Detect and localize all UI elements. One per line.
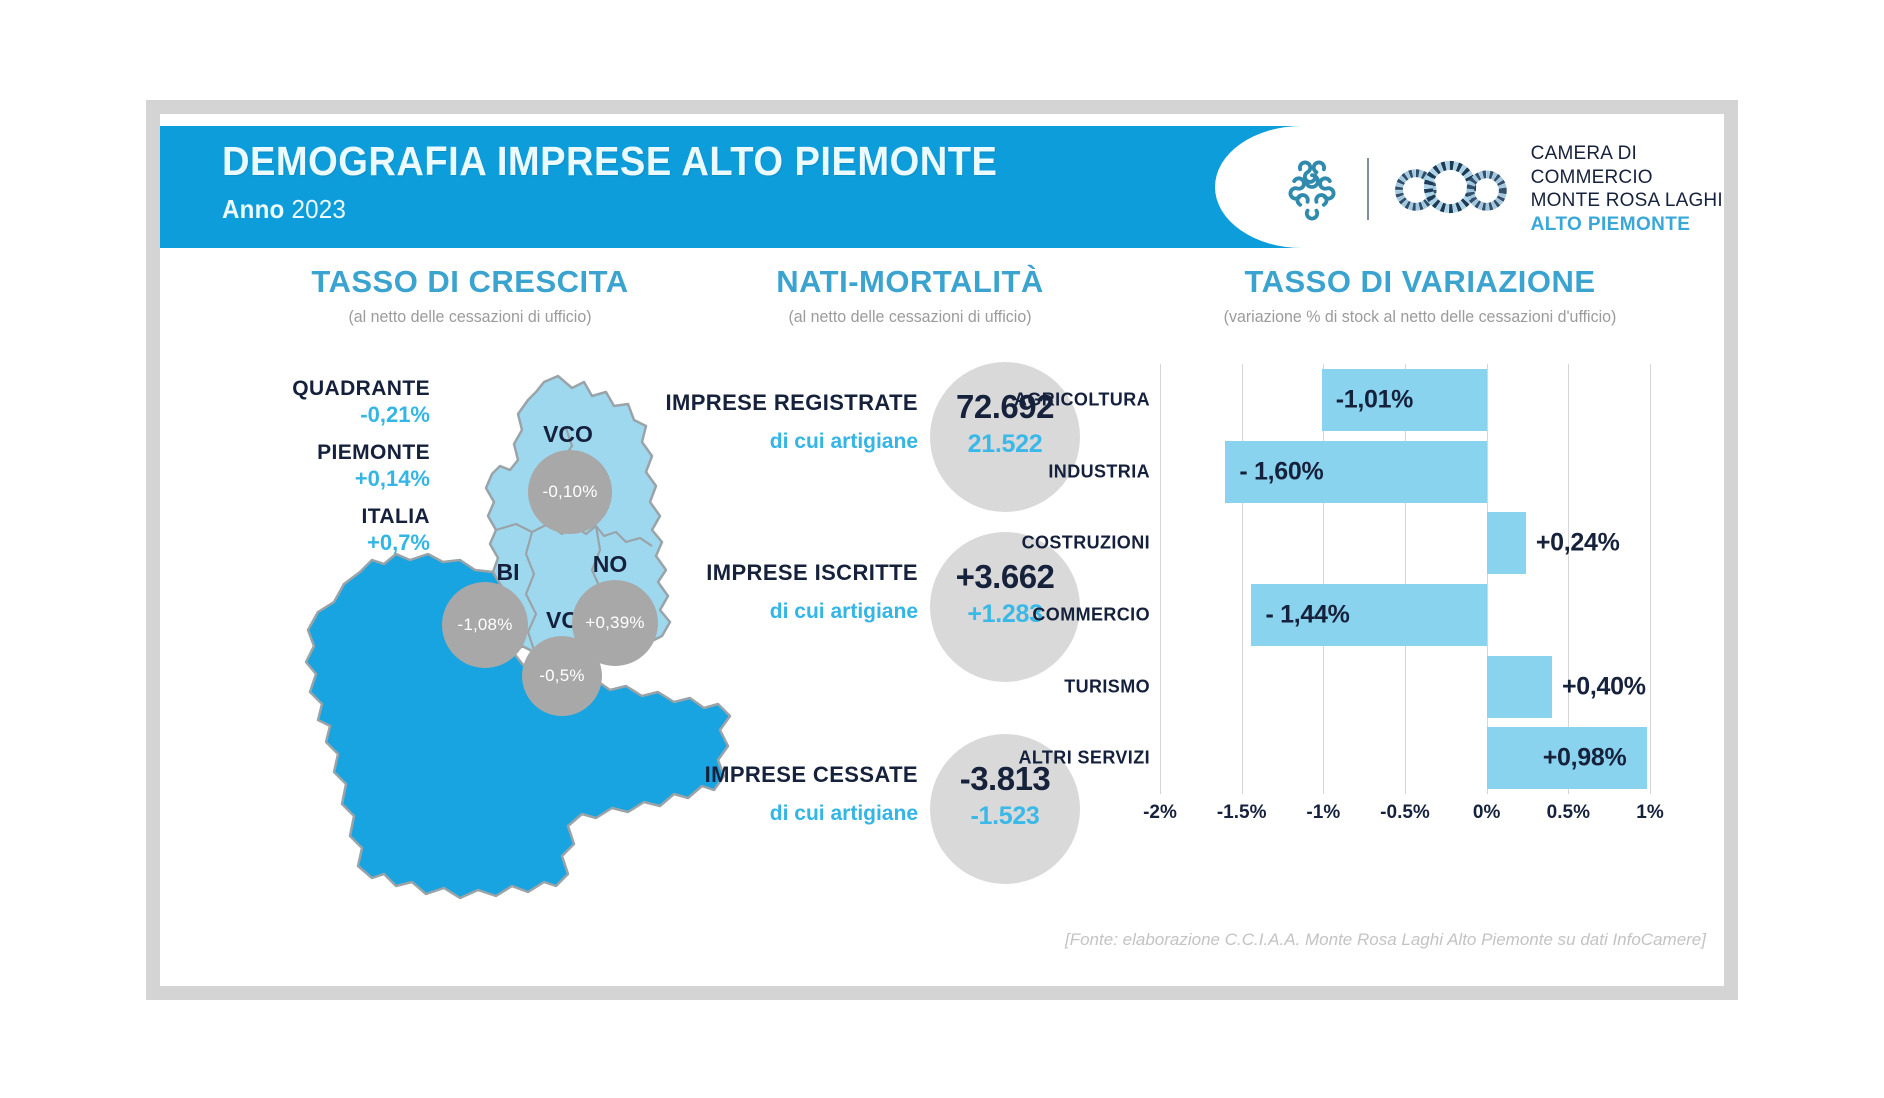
chart-category-label: ALTRI SERVIZI xyxy=(1018,748,1150,769)
brand-logo: CAMERA DI COMMERCIO MONTE ROSA LAGHI ALT… xyxy=(1275,142,1724,236)
infinity-knot-icon xyxy=(1387,156,1513,223)
page-title: DEMOGRAFIA IMPRESE ALTO PIEMONTE xyxy=(222,138,997,185)
logo-line-3: ALTO PIEMONTE xyxy=(1531,213,1724,237)
logo-divider xyxy=(1367,158,1369,220)
chart-x-axis-labels: -2%-1.5%-1%-0.5%0%0.5%1% xyxy=(1160,802,1650,832)
stat-sublabel-iscritte: di cui artigiane xyxy=(770,600,918,624)
chart-x-tick-label: -1% xyxy=(1306,802,1340,824)
variation-column-heading: TASSO DI VARIAZIONE (variazione % di sto… xyxy=(1120,264,1720,327)
growth-heading-text: TASSO DI CRESCITA xyxy=(220,264,720,300)
chart-category-label: INDUSTRIA xyxy=(1048,461,1150,482)
map-bubble-no-value: +0,39% xyxy=(585,613,644,633)
growth-column-heading: TASSO DI CRESCITA (al netto delle cessaz… xyxy=(220,264,720,327)
chart-gridline xyxy=(1160,364,1161,794)
map-bubble-bi-value: -1,08% xyxy=(457,615,512,635)
chart-x-tick-label: 0% xyxy=(1473,802,1500,824)
logo-wordmark: CAMERA DI COMMERCIO MONTE ROSA LAGHI ALT… xyxy=(1531,142,1724,236)
chart-x-tick-label: -0.5% xyxy=(1380,802,1430,824)
chart-plot-area: -1,01%- 1,60%+0,24%- 1,44%+0,40%+0,98% xyxy=(1160,364,1650,794)
map-bubble-vc-value: -0,5% xyxy=(539,666,584,686)
variation-heading-text: TASSO DI VARIAZIONE xyxy=(1120,264,1720,300)
chart-category-label: COSTRUZIONI xyxy=(1022,533,1150,554)
swirl-rosette-icon xyxy=(1275,150,1349,229)
chart-category-label: COMMERCIO xyxy=(1032,604,1150,625)
chart-bar-value-label: -1,01% xyxy=(1336,385,1413,414)
birthdeath-subheading-text: (al netto delle cessazioni di ufficio) xyxy=(703,307,1117,327)
stat-label-cessate: IMPRESE CESSATE xyxy=(705,762,918,788)
birthdeath-column-heading: NATI-MORTALITÀ (al netto delle cessazion… xyxy=(690,264,1130,327)
chart-bar-value-label: +0,24% xyxy=(1536,529,1620,558)
chart-bar-value-label: +0,40% xyxy=(1562,672,1646,701)
infographic-poster: DEMOGRAFIA IMPRESE ALTO PIEMONTE Anno 20… xyxy=(146,100,1738,1000)
stat-sublabel-cessate: di cui artigiane xyxy=(770,802,918,826)
map-bubble-bi: -1,08% xyxy=(442,582,528,668)
chart-gridline xyxy=(1650,364,1651,794)
chart-category-label: TURISMO xyxy=(1064,676,1150,697)
subtitle-year: 2023 xyxy=(291,194,346,224)
stat-label-iscritte: IMPRESE ISCRITTE xyxy=(706,560,918,586)
map-label-no: NO xyxy=(593,551,628,577)
map-bubble-vc: -0,5% xyxy=(522,636,602,716)
chart-gridline xyxy=(1242,364,1243,794)
stat-subvalue-cessate: -1.523 xyxy=(942,802,1068,831)
subtitle-label: Anno xyxy=(222,194,285,224)
logo-line-2: MONTE ROSA LAGHI xyxy=(1531,189,1724,213)
chart-x-tick-label: -1.5% xyxy=(1217,802,1267,824)
variation-subheading-text: (variazione % di stock al netto delle ce… xyxy=(1138,307,1702,327)
chart-x-tick-label: 1% xyxy=(1636,802,1663,824)
chart-x-tick-label: -2% xyxy=(1143,802,1177,824)
stat-label-registrate: IMPRESE REGISTRATE xyxy=(666,390,919,416)
birthdeath-heading-text: NATI-MORTALITÀ xyxy=(690,264,1130,300)
page-subtitle: Anno 2023 xyxy=(222,194,346,225)
map-bubble-vco: -0,10% xyxy=(528,450,612,534)
variation-bar-chart: AGRICOLTURAINDUSTRIACOSTRUZIONICOMMERCIO… xyxy=(1100,364,1660,834)
chart-x-tick-label: 0.5% xyxy=(1547,802,1590,824)
chart-bar xyxy=(1487,656,1552,718)
map-label-vco: VCO xyxy=(543,421,593,447)
chart-bar-value-label: - 1,60% xyxy=(1239,457,1323,486)
map-bubble-vco-value: -0,10% xyxy=(542,482,597,502)
chart-bar-value-label: +0,98% xyxy=(1543,744,1627,773)
stat-sublabel-registrate: di cui artigiane xyxy=(770,430,918,454)
chart-category-label: AGRICOLTURA xyxy=(1014,389,1150,410)
growth-subheading-text: (al netto delle cessazioni di ufficio) xyxy=(235,307,705,327)
source-note: [Fonte: elaborazione C.C.I.A.A. Monte Ro… xyxy=(1065,930,1706,950)
logo-line-1: CAMERA DI COMMERCIO xyxy=(1531,142,1724,189)
map-label-bi: BI xyxy=(497,559,520,585)
chart-category-labels: AGRICOLTURAINDUSTRIACOSTRUZIONICOMMERCIO… xyxy=(970,364,1150,794)
poster-inner: DEMOGRAFIA IMPRESE ALTO PIEMONTE Anno 20… xyxy=(160,114,1724,986)
chart-bar xyxy=(1487,512,1526,574)
chart-bar-value-label: - 1,44% xyxy=(1265,600,1349,629)
